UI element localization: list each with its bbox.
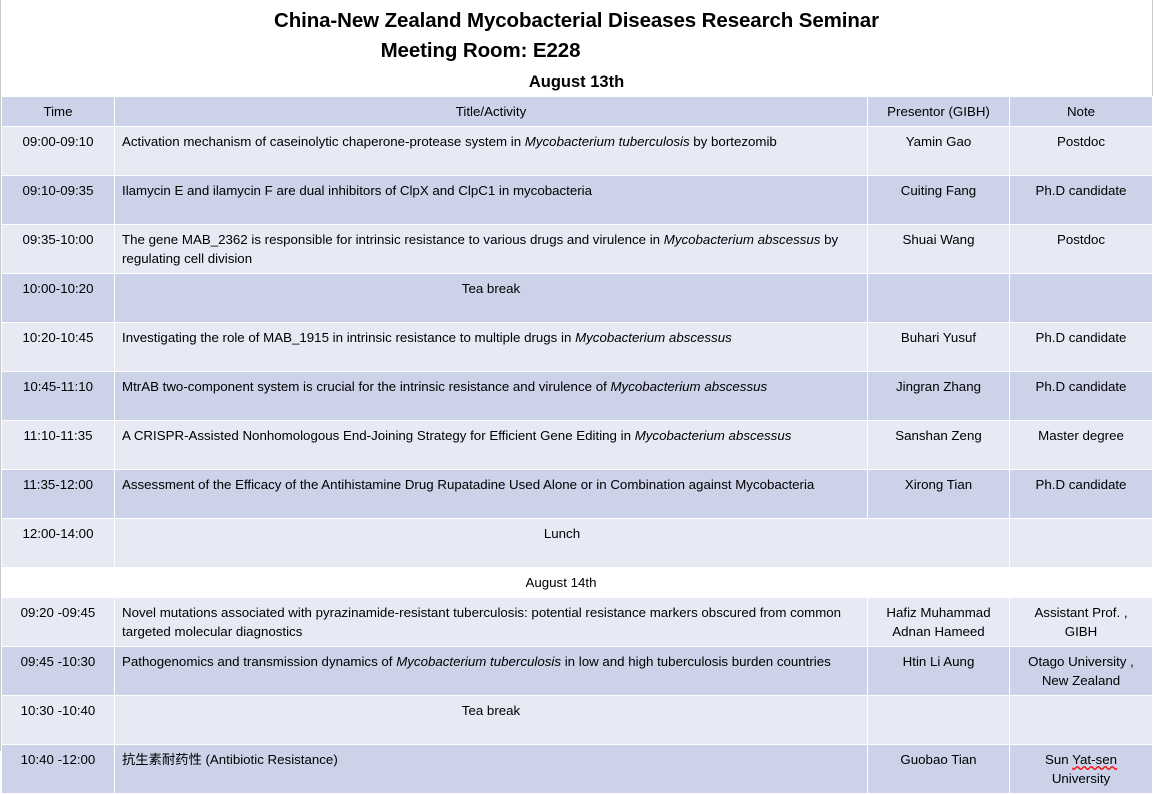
title-text: Tea break (462, 281, 520, 296)
title-text: Investigating the role of MAB_1915 in in… (122, 330, 575, 345)
cell-time: 10:30 -10:40 (2, 696, 115, 745)
species-name-italic: Mycobacterium abscessus (610, 379, 767, 394)
cell-title-activity: Lunch (115, 519, 1010, 568)
cell-note: Sun Yat-sen University (1010, 745, 1153, 794)
species-name-italic: Mycobacterium tuberculosis (396, 654, 561, 669)
cell-note: Master degree (1010, 421, 1153, 470)
cell-note (1010, 274, 1153, 323)
title-text: Assessment of the Efficacy of the Antihi… (122, 477, 814, 492)
table-row: 09:10-09:35Ilamycin E and ilamycin F are… (2, 176, 1153, 225)
title-text-tail: by bortezomib (690, 134, 777, 149)
table-row: 11:10-11:35A CRISPR-Assisted Nonhomologo… (2, 421, 1153, 470)
cell-presentor: Buhari Yusuf (868, 323, 1010, 372)
species-name-italic: Mycobacterium abscessus (664, 232, 821, 247)
cell-time: 10:45-11:10 (2, 372, 115, 421)
date-heading-august-14: August 14th (115, 568, 1010, 598)
column-header-presentor: Presentor (GIBH) (868, 97, 1010, 127)
table-row: 09:00-09:10Activation mechanism of casei… (2, 127, 1153, 176)
cell-time: 11:35-12:00 (2, 470, 115, 519)
cell-time: 09:10-09:35 (2, 176, 115, 225)
cell-note: Ph.D candidate (1010, 470, 1153, 519)
date-row-spacer-right (1010, 568, 1153, 598)
cell-note: Ph.D candidate (1010, 176, 1153, 225)
note-text: Sun (1045, 752, 1072, 767)
title-text: Novel mutations associated with pyrazina… (122, 605, 841, 639)
meeting-room-line: Meeting Room: E228 (1, 36, 1152, 66)
cell-presentor: Yamin Gao (868, 127, 1010, 176)
cell-presentor: Shuai Wang (868, 225, 1010, 274)
cell-note: Otago University , New Zealand (1010, 647, 1153, 696)
cell-time: 09:45 -10:30 (2, 647, 115, 696)
column-header-note: Note (1010, 97, 1153, 127)
cell-title-activity: The gene MAB_2362 is responsible for int… (115, 225, 868, 274)
table-row: 10:45-11:10MtrAB two-component system is… (2, 372, 1153, 421)
schedule-body-day2: 09:20 -09:45Novel mutations associated w… (2, 598, 1153, 794)
cell-title-activity: Tea break (115, 274, 868, 323)
column-header-title: Title/Activity (115, 97, 868, 127)
cell-note: Assistant Prof. , GIBH (1010, 598, 1153, 647)
cell-title-activity: Ilamycin E and ilamycin F are dual inhib… (115, 176, 868, 225)
cell-time: 12:00-14:00 (2, 519, 115, 568)
document-title-block: China-New Zealand Mycobacterial Diseases… (1, 0, 1152, 66)
title-text: MtrAB two-component system is crucial fo… (122, 379, 610, 394)
cell-presentor: Hafiz Muhammad Adnan Hameed (868, 598, 1010, 647)
table-row: 10:00-10:20Tea break (2, 274, 1153, 323)
species-name-italic: Mycobacterium abscessus (575, 330, 732, 345)
title-text: Tea break (462, 703, 520, 718)
cell-note (1010, 519, 1153, 568)
title-text: Pathogenomics and transmission dynamics … (122, 654, 396, 669)
cell-presentor: Guobao Tian (868, 745, 1010, 794)
cell-time: 09:35-10:00 (2, 225, 115, 274)
title-text: Ilamycin E and ilamycin F are dual inhib… (122, 183, 592, 198)
table-row: 12:00-14:00Lunch (2, 519, 1153, 568)
cell-time: 09:00-09:10 (2, 127, 115, 176)
date-separator-august-14: August 14th (2, 568, 1153, 598)
species-name-italic: Mycobacterium tuberculosis (525, 134, 690, 149)
cell-title-activity: A CRISPR-Assisted Nonhomologous End-Join… (115, 421, 868, 470)
species-name-italic: Mycobacterium abscessus (635, 428, 792, 443)
cell-title-activity: Investigating the role of MAB_1915 in in… (115, 323, 868, 372)
table-row: 10:40 -12:00抗生素耐药性 (Antibiotic Resistanc… (2, 745, 1153, 794)
cell-time: 10:40 -12:00 (2, 745, 115, 794)
cell-presentor: Jingran Zhang (868, 372, 1010, 421)
cell-title-activity: Novel mutations associated with pyrazina… (115, 598, 868, 647)
cell-title-activity: Assessment of the Efficacy of the Antihi… (115, 470, 868, 519)
cell-time: 10:20-10:45 (2, 323, 115, 372)
cell-time: 09:20 -09:45 (2, 598, 115, 647)
document-page: China-New Zealand Mycobacterial Diseases… (0, 0, 1153, 751)
table-row: 10:20-10:45Investigating the role of MAB… (2, 323, 1153, 372)
cell-time: 10:00-10:20 (2, 274, 115, 323)
title-text: The gene MAB_2362 is responsible for int… (122, 232, 664, 247)
spellcheck-flagged-text: Yat-sen (1072, 752, 1117, 767)
cell-title-activity: Tea break (115, 696, 868, 745)
table-row: 09:35-10:00The gene MAB_2362 is responsi… (2, 225, 1153, 274)
cell-title-activity: Pathogenomics and transmission dynamics … (115, 647, 868, 696)
date-heading-august-13: August 13th (1, 66, 1152, 96)
table-row: 10:30 -10:40Tea break (2, 696, 1153, 745)
cell-time: 11:10-11:35 (2, 421, 115, 470)
cell-presentor (868, 274, 1010, 323)
table-row: 09:20 -09:45Novel mutations associated w… (2, 598, 1153, 647)
title-text: Lunch (544, 526, 580, 541)
title-text: A CRISPR-Assisted Nonhomologous End-Join… (122, 428, 635, 443)
cell-presentor (868, 696, 1010, 745)
cell-presentor: Cuiting Fang (868, 176, 1010, 225)
cell-presentor: Htin Li Aung (868, 647, 1010, 696)
schedule-table: Time Title/Activity Presentor (GIBH) Not… (1, 96, 1153, 794)
table-header-row: Time Title/Activity Presentor (GIBH) Not… (2, 97, 1153, 127)
cell-title-activity: Activation mechanism of caseinolytic cha… (115, 127, 868, 176)
date-heading-august-14-text: August 14th (526, 573, 599, 592)
table-row: 11:35-12:00Assessment of the Efficacy of… (2, 470, 1153, 519)
title-text: 抗生素耐药性 (Antibiotic Resistance) (122, 752, 338, 767)
cell-note: Postdoc (1010, 225, 1153, 274)
title-text-tail: in low and high tuberculosis burden coun… (561, 654, 831, 669)
date-heading-row: August 14th (2, 568, 1153, 598)
cell-note: Ph.D candidate (1010, 372, 1153, 421)
cell-title-activity: MtrAB two-component system is crucial fo… (115, 372, 868, 421)
note-text-tail: University (1052, 771, 1110, 786)
cell-note: Ph.D candidate (1010, 323, 1153, 372)
cell-title-activity: 抗生素耐药性 (Antibiotic Resistance) (115, 745, 868, 794)
cell-note (1010, 696, 1153, 745)
title-text: Activation mechanism of caseinolytic cha… (122, 134, 525, 149)
table-row: 09:45 -10:30Pathogenomics and transmissi… (2, 647, 1153, 696)
cell-presentor: Xirong Tian (868, 470, 1010, 519)
seminar-title: China-New Zealand Mycobacterial Diseases… (1, 6, 1152, 36)
schedule-body-day1: 09:00-09:10Activation mechanism of casei… (2, 127, 1153, 568)
cell-note: Postdoc (1010, 127, 1153, 176)
date-row-spacer-left (2, 568, 115, 598)
column-header-time: Time (2, 97, 115, 127)
cell-presentor: Sanshan Zeng (868, 421, 1010, 470)
